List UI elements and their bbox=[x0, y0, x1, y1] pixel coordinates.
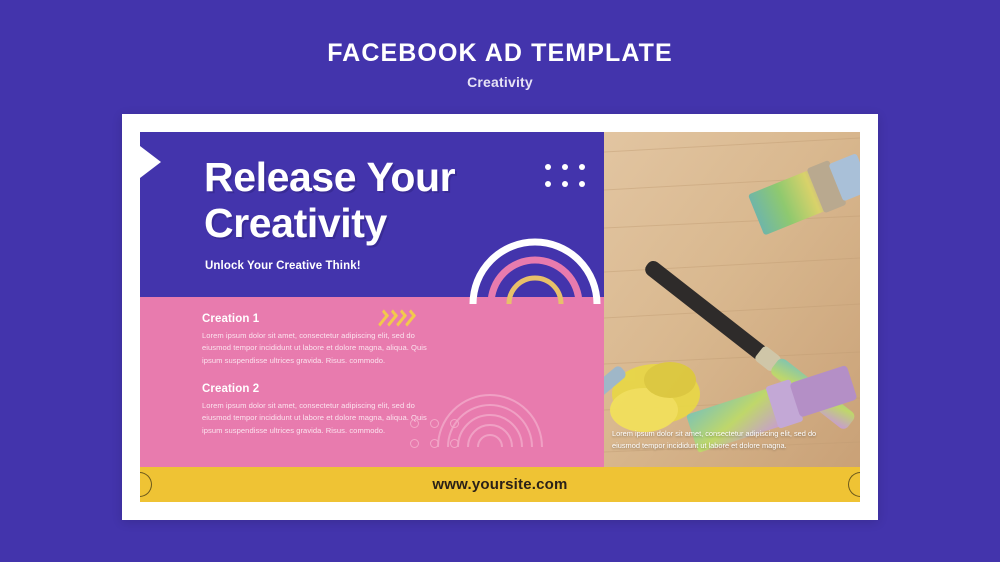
dot-grid-icon bbox=[545, 164, 589, 191]
creation-body: Lorem ipsum dolor sit amet, consectetur … bbox=[202, 400, 432, 437]
page-subtitle: Creativity bbox=[0, 74, 1000, 90]
ad-card-frame: Release Your Creativity Unlock Your Crea… bbox=[122, 114, 878, 520]
ad-photo-caption: Lorem ipsum dolor sit amet, consectetur … bbox=[612, 428, 817, 453]
ad-card-inner: Release Your Creativity Unlock Your Crea… bbox=[140, 132, 860, 502]
triangle-right-icon bbox=[140, 146, 161, 178]
ad-headline: Release Your Creativity bbox=[204, 154, 524, 247]
creation-body: Lorem ipsum dolor sit amet, consectetur … bbox=[202, 330, 432, 367]
ad-left-column: Release Your Creativity Unlock Your Crea… bbox=[140, 132, 604, 502]
creation-section: Creation 2 Lorem ipsum dolor sit amet, c… bbox=[202, 383, 432, 437]
website-url[interactable]: www.yoursite.com bbox=[140, 467, 860, 502]
circle-grid-icon bbox=[410, 419, 467, 456]
chevron-right-icon bbox=[378, 311, 413, 325]
ad-content-panel: Creation 1 Lorem ipsum dolor sit amet, c… bbox=[140, 297, 604, 467]
creation-title: Creation 2 bbox=[202, 383, 432, 395]
ad-hero-panel: Release Your Creativity Unlock Your Crea… bbox=[140, 132, 604, 297]
ad-tagline: Unlock Your Creative Think! bbox=[205, 260, 361, 272]
ad-photo: Lorem ipsum dolor sit amet, consectetur … bbox=[604, 132, 860, 467]
ad-footer-bar: www.yoursite.com bbox=[140, 467, 860, 502]
paintbrush-photo-image bbox=[604, 132, 860, 467]
page-title: FACEBOOK AD TEMPLATE bbox=[0, 40, 1000, 68]
page-header: FACEBOOK AD TEMPLATE Creativity bbox=[0, 40, 1000, 90]
